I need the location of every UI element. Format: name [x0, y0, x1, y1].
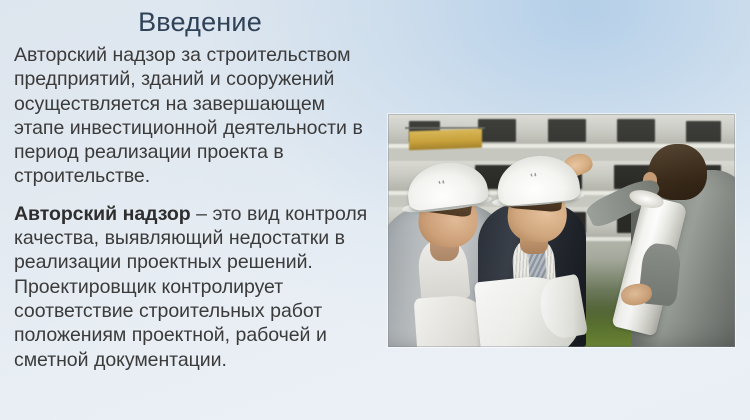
- paragraph-definition: Авторский надзор – это вид контроля каче…: [14, 202, 372, 372]
- definition-term: Авторский надзор: [14, 203, 191, 225]
- body-text-column: Авторский надзор за строительством предп…: [14, 43, 372, 372]
- presentation-slide: Введение Авторский надзор за строительст…: [0, 0, 750, 420]
- window-opening: [686, 121, 721, 142]
- hard-hat-vent: [531, 173, 539, 177]
- window-opening: [478, 119, 516, 142]
- paragraph-intro: Авторский надзор за строительством предп…: [14, 43, 372, 189]
- window-opening: [548, 119, 586, 142]
- window-opening: [617, 119, 655, 142]
- page-title: Введение: [0, 7, 400, 37]
- scaffold-platform: [409, 129, 482, 150]
- photo-content: [388, 114, 735, 347]
- hard-hat-vent: [438, 180, 445, 184]
- definition-description: – это вид контроля качества, выявляющий …: [14, 203, 367, 371]
- construction-site-photo: [388, 114, 735, 347]
